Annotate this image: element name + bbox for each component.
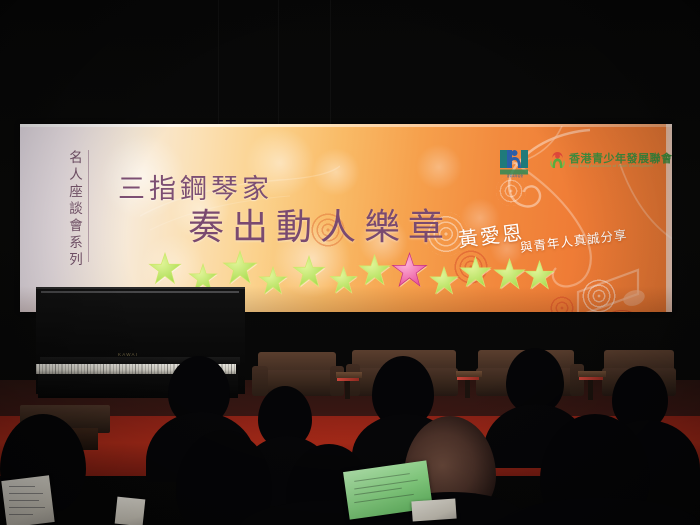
side-table-leg [588,380,593,400]
piano-lid-edge [41,291,239,293]
sofa-armrest [570,364,584,396]
banner-series-rule [88,150,89,262]
paper-text-line [9,514,33,515]
bokeh-circle [416,144,462,190]
paper-text-line [9,507,45,508]
programme-sheet-slip [411,498,456,521]
side-table-leg [465,380,470,398]
sofa-armrest [330,366,344,396]
banner-top-edge [20,124,672,127]
paper-text-line [9,486,35,487]
youth-figure-logo-icon [499,147,529,177]
side-table-leg [345,381,350,399]
sprout-figure-logo-icon [549,150,566,169]
banner-title-line2: 奏出動人樂章 [188,198,452,250]
paper-text-line [9,493,43,494]
programme-sheet-slip [115,497,146,525]
sofa-armrest [252,366,268,396]
youth-development-logo-name-en: Hong Kong Association of Youth Developme… [569,164,653,168]
photo-scene: 名人座談會系列 三指鋼琴家 奏出動人樂章 黃愛恩 與青年人真誠分享 香港青年協會… [0,0,700,525]
banner-series-label: 名人座談會系列 [62,150,84,269]
youth-figure-logo-caption: 香港青年協會 [495,175,535,178]
backdrop-seam [278,0,279,130]
paper-text-line [9,500,39,501]
bokeh-circle [312,148,360,196]
backdrop-seam [218,0,219,130]
ripple-rings [454,250,488,284]
ripple-rings [496,176,526,206]
backdrop-seam [330,0,331,130]
